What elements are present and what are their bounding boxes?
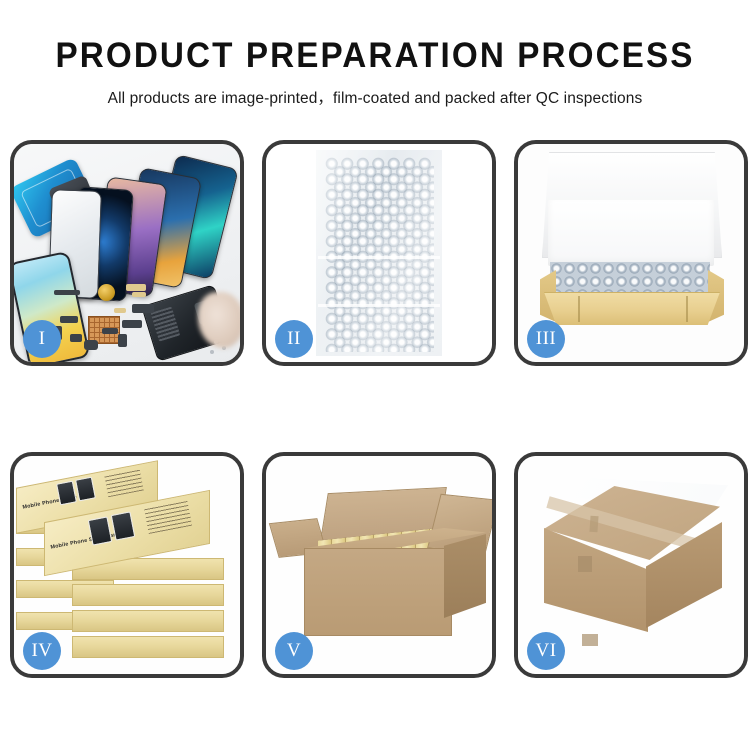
- step-panel-5: V: [262, 452, 496, 678]
- carton-tab-lower: [582, 634, 598, 646]
- step-badge-3: III: [527, 320, 565, 358]
- box-crease-left: [578, 296, 580, 322]
- step-badge-6: VI: [527, 632, 565, 670]
- step-panel-4: Mobile Phone Spare Parts Mobile Phone Sp…: [10, 452, 244, 678]
- speaker-coil-part: [98, 284, 115, 301]
- flex-cable-part-1: [126, 284, 146, 291]
- ribbon-cable-part: [102, 328, 118, 334]
- flex-cable-part-3: [114, 308, 126, 313]
- taptic-engine-part: [84, 340, 98, 350]
- logic-board-part: [132, 304, 154, 313]
- stacked-box-front-3: [72, 610, 224, 632]
- stacked-box-front-2: [72, 584, 224, 606]
- step-panel-3: III: [514, 140, 748, 366]
- flex-cable-part-2: [132, 292, 146, 297]
- product-preparation-infographic: PRODUCT PREPARATION PROCESS All products…: [0, 0, 750, 750]
- step-badge-1: I: [23, 320, 61, 358]
- box-front-wall: [544, 292, 720, 325]
- carton-tab-upper: [578, 556, 592, 572]
- step-badge-4: IV: [23, 632, 61, 670]
- step-badge-2: II: [275, 320, 313, 358]
- white-foam-insert: [548, 200, 714, 266]
- earpiece-mesh-part: [54, 290, 80, 295]
- battery-connector-part: [122, 320, 142, 328]
- connector-part-1: [60, 316, 78, 323]
- step-panel-6: VI: [514, 452, 748, 678]
- bubble-wrapped-contents: [550, 262, 710, 294]
- stacked-box-front-4: [72, 636, 224, 658]
- plastic-sheen: [316, 150, 442, 356]
- carton-front-wall: [304, 548, 452, 636]
- page-title: PRODUCT PREPARATION PROCESS: [19, 36, 732, 76]
- step-panel-2: II: [262, 140, 496, 366]
- page-subtitle: All products are image-printed，film-coat…: [0, 86, 750, 108]
- screw-3: [210, 350, 214, 354]
- step-panel-1: I: [10, 140, 244, 366]
- camera-module-part: [70, 334, 82, 342]
- box-crease-right: [686, 296, 688, 322]
- tape-edge-fold: [589, 516, 598, 533]
- battery-part: [118, 334, 127, 347]
- step-badge-5: V: [275, 632, 313, 670]
